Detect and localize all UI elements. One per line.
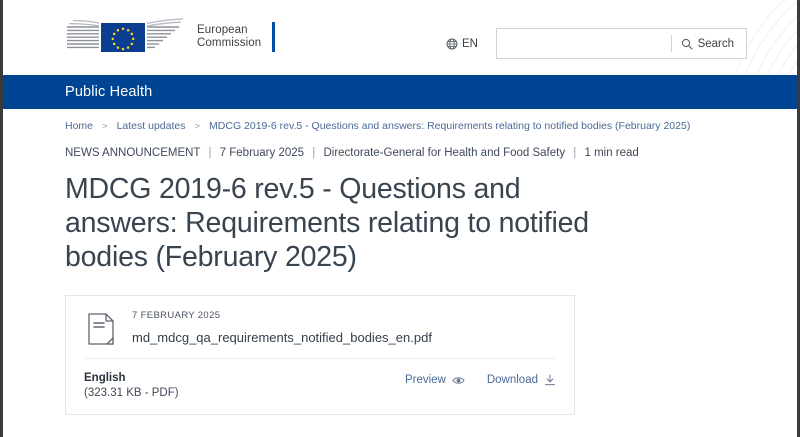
- globe-icon: [446, 38, 458, 50]
- breadcrumb-item-latest-updates[interactable]: Latest updates: [117, 120, 186, 132]
- document-filename[interactable]: md_mdcg_qa_requirements_notified_bodies_…: [132, 330, 556, 345]
- site-name[interactable]: Public Health: [65, 84, 152, 100]
- page-title: MDCG 2019-6 rev.5 - Questions and answer…: [65, 172, 625, 274]
- download-button[interactable]: Download: [487, 374, 556, 386]
- document-card: 7 FEBRUARY 2025 md_mdcg_qa_requirements_…: [65, 295, 575, 415]
- search-icon: [681, 38, 693, 50]
- document-icon: [88, 313, 114, 345]
- document-actions: Preview Download: [405, 372, 556, 386]
- search-input[interactable]: [497, 29, 671, 58]
- site-band: Public Health: [3, 75, 797, 109]
- document-card-divider: [84, 358, 556, 359]
- breadcrumb: Home > Latest updates > MDCG 2019-6 rev.…: [3, 109, 797, 132]
- document-language-block: English (323.31 KB - PDF): [84, 372, 179, 399]
- document-size: (323.31 KB - PDF): [84, 387, 179, 399]
- main-content: NEWS ANNOUNCEMENT | 7 February 2025 | Di…: [3, 147, 797, 415]
- article-meta-read-time: 1 min read: [584, 147, 638, 159]
- european-commission-logo[interactable]: European Commission: [65, 14, 275, 60]
- eu-flag-icon: [65, 17, 187, 57]
- breadcrumb-separator: >: [102, 121, 108, 132]
- article-meta-type: NEWS ANNOUNCEMENT: [65, 147, 200, 159]
- search-button-label: Search: [698, 38, 734, 50]
- document-language: English: [84, 372, 179, 384]
- logo-text: European Commission: [197, 24, 261, 51]
- breadcrumb-separator: >: [194, 121, 200, 132]
- download-label: Download: [487, 374, 538, 386]
- breadcrumb-item-current[interactable]: MDCG 2019-6 rev.5 - Questions and answer…: [209, 120, 690, 132]
- logo-separator: [272, 22, 275, 52]
- header-tools: EN Search: [446, 28, 747, 59]
- search-button[interactable]: Search: [672, 29, 746, 58]
- meta-separator: |: [312, 147, 315, 159]
- preview-label: Preview: [405, 374, 446, 386]
- document-card-top: 7 FEBRUARY 2025 md_mdcg_qa_requirements_…: [84, 310, 556, 345]
- language-label: EN: [462, 38, 478, 50]
- article-meta: NEWS ANNOUNCEMENT | 7 February 2025 | Di…: [65, 147, 735, 159]
- article-meta-date: 7 February 2025: [220, 147, 304, 159]
- logo-text-line2: Commission: [197, 37, 261, 51]
- search-box: Search: [496, 28, 747, 59]
- document-info: 7 FEBRUARY 2025 md_mdcg_qa_requirements_…: [132, 310, 556, 345]
- article-meta-department: Directorate-General for Health and Food …: [323, 147, 565, 159]
- document-date: 7 FEBRUARY 2025: [132, 310, 556, 321]
- preview-button[interactable]: Preview: [405, 374, 465, 386]
- logo-text-line1: European: [197, 24, 261, 38]
- download-icon: [544, 374, 556, 386]
- meta-separator: |: [208, 147, 211, 159]
- site-header: European Commission EN: [3, 0, 797, 75]
- document-card-bottom: English (323.31 KB - PDF) Preview Downlo…: [84, 372, 556, 399]
- eye-icon: [452, 375, 465, 386]
- breadcrumb-item-home[interactable]: Home: [65, 120, 93, 132]
- language-switcher[interactable]: EN: [446, 38, 478, 50]
- meta-separator: |: [573, 147, 576, 159]
